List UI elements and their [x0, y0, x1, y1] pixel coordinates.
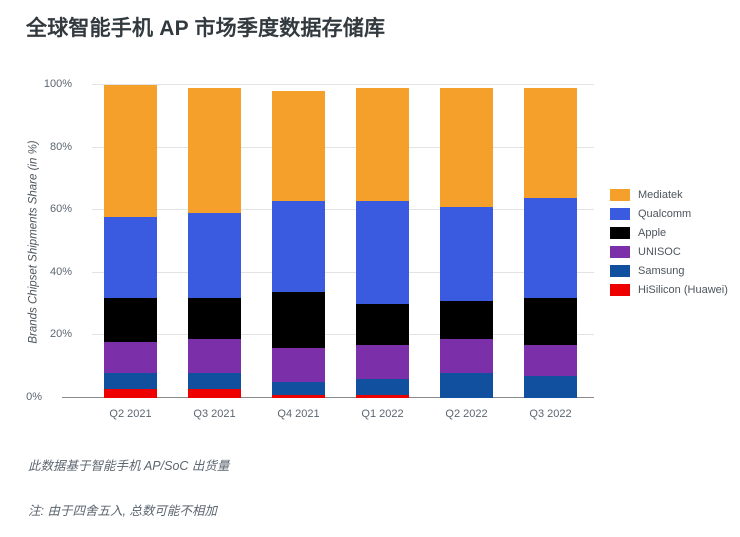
bar-segment-mediatek[interactable]	[356, 88, 409, 201]
bar-segment-apple[interactable]	[104, 298, 157, 342]
footnote-source: 此数据基于智能手机 AP/SoC 出货量	[28, 455, 229, 474]
x-axis-tick-label: Q2 2022	[440, 408, 493, 420]
bar-segment-apple[interactable]	[272, 292, 325, 348]
bar-segment-unisoc[interactable]	[440, 339, 493, 373]
bar-segment-qualcomm[interactable]	[104, 217, 157, 298]
bar-segment-qualcomm[interactable]	[356, 201, 409, 304]
gridline: 80%	[92, 147, 594, 148]
x-axis-tick-label: Q1 2022	[356, 408, 409, 420]
bar-segment-hisilicon-huawei[interactable]	[356, 395, 409, 398]
bar-segment-mediatek[interactable]	[104, 85, 157, 216]
legend-item-label: HiSilicon (Huawei)	[638, 284, 728, 296]
gridline: 100%	[92, 84, 594, 85]
bar-segment-qualcomm[interactable]	[440, 207, 493, 301]
bar-segment-samsung[interactable]	[440, 373, 493, 398]
x-axis-tick-label: Q4 2021	[272, 408, 325, 420]
bar-segment-qualcomm[interactable]	[524, 198, 577, 298]
footnote-note: 注: 由于四舍五入, 总数可能不相加	[28, 500, 217, 519]
bar-segment-unisoc[interactable]	[272, 348, 325, 382]
legend-item[interactable]: UNISOC	[610, 243, 728, 261]
bar-segment-hisilicon-huawei[interactable]	[188, 389, 241, 398]
bar-segment-unisoc[interactable]	[356, 345, 409, 379]
stacked-bar[interactable]	[440, 88, 493, 398]
legend-item[interactable]: Apple	[610, 224, 728, 242]
legend-item-label: UNISOC	[638, 246, 681, 258]
legend-item[interactable]: HiSilicon (Huawei)	[610, 281, 728, 299]
bar-segment-unisoc[interactable]	[104, 342, 157, 373]
y-axis-tick-label: 20%	[50, 328, 72, 340]
legend-item-label: Samsung	[638, 265, 684, 277]
stacked-bar[interactable]	[188, 88, 241, 398]
legend-swatch-icon	[610, 227, 630, 239]
legend-swatch-icon	[610, 265, 630, 277]
bar-segment-mediatek[interactable]	[188, 88, 241, 213]
legend-item[interactable]: Mediatek	[610, 186, 728, 204]
y-axis-title-label: Brands Chipset Shipments Share (in %)	[28, 140, 40, 343]
stacked-bar[interactable]	[272, 91, 325, 398]
legend-item-label: Apple	[638, 227, 666, 239]
legend-item[interactable]: Samsung	[610, 262, 728, 280]
gridline: 40%	[92, 272, 594, 273]
y-axis-tick-label: 60%	[50, 203, 72, 215]
bar-segment-qualcomm[interactable]	[272, 201, 325, 292]
y-axis-tick-label: 40%	[50, 266, 72, 278]
bar-segment-samsung[interactable]	[188, 373, 241, 389]
bar-segment-hisilicon-huawei[interactable]	[104, 389, 157, 398]
legend-swatch-icon	[610, 189, 630, 201]
bar-segment-apple[interactable]	[356, 304, 409, 345]
legend-item-label: Mediatek	[638, 189, 683, 201]
bar-segment-mediatek[interactable]	[440, 88, 493, 207]
page-title: 全球智能手机 AP 市场季度数据存储库	[26, 12, 385, 42]
bar-segment-unisoc[interactable]	[188, 339, 241, 373]
gridline: 60%	[92, 209, 594, 210]
legend-swatch-icon	[610, 246, 630, 258]
bar-segment-mediatek[interactable]	[524, 88, 577, 198]
bar-segment-samsung[interactable]	[272, 382, 325, 395]
chart-legend: MediatekQualcommAppleUNISOCSamsungHiSili…	[610, 186, 728, 300]
chart-plot-area: 0%20%40%60%80%100% Q2 2021Q3 2021Q4 2021…	[104, 85, 594, 398]
legend-swatch-icon	[610, 208, 630, 220]
bar-segment-mediatek[interactable]	[272, 91, 325, 201]
x-axis-tick-label: Q3 2021	[188, 408, 241, 420]
stacked-bar[interactable]	[524, 88, 577, 398]
bar-segment-apple[interactable]	[188, 298, 241, 339]
y-axis-title: Brands Chipset Shipments Share (in %)	[26, 85, 42, 398]
bar-segment-samsung[interactable]	[356, 379, 409, 395]
y-axis-tick-label: 0%	[26, 391, 42, 403]
bar-segment-unisoc[interactable]	[524, 345, 577, 376]
legend-swatch-icon	[610, 284, 630, 296]
y-axis-tick-label: 80%	[50, 141, 72, 153]
stacked-bar[interactable]	[356, 88, 409, 398]
bar-segment-samsung[interactable]	[524, 376, 577, 398]
bar-segment-qualcomm[interactable]	[188, 213, 241, 298]
bar-segment-hisilicon-huawei[interactable]	[272, 395, 325, 398]
bar-segment-apple[interactable]	[524, 298, 577, 345]
x-axis-tick-label: Q2 2021	[104, 408, 157, 420]
y-axis-tick-label: 100%	[44, 78, 72, 90]
gridline: 20%	[92, 334, 594, 335]
legend-item-label: Qualcomm	[638, 208, 691, 220]
legend-item[interactable]: Qualcomm	[610, 205, 728, 223]
x-axis-tick-label: Q3 2022	[524, 408, 577, 420]
stacked-bar[interactable]	[104, 85, 157, 398]
bar-segment-samsung[interactable]	[104, 373, 157, 389]
bar-segment-apple[interactable]	[440, 301, 493, 339]
